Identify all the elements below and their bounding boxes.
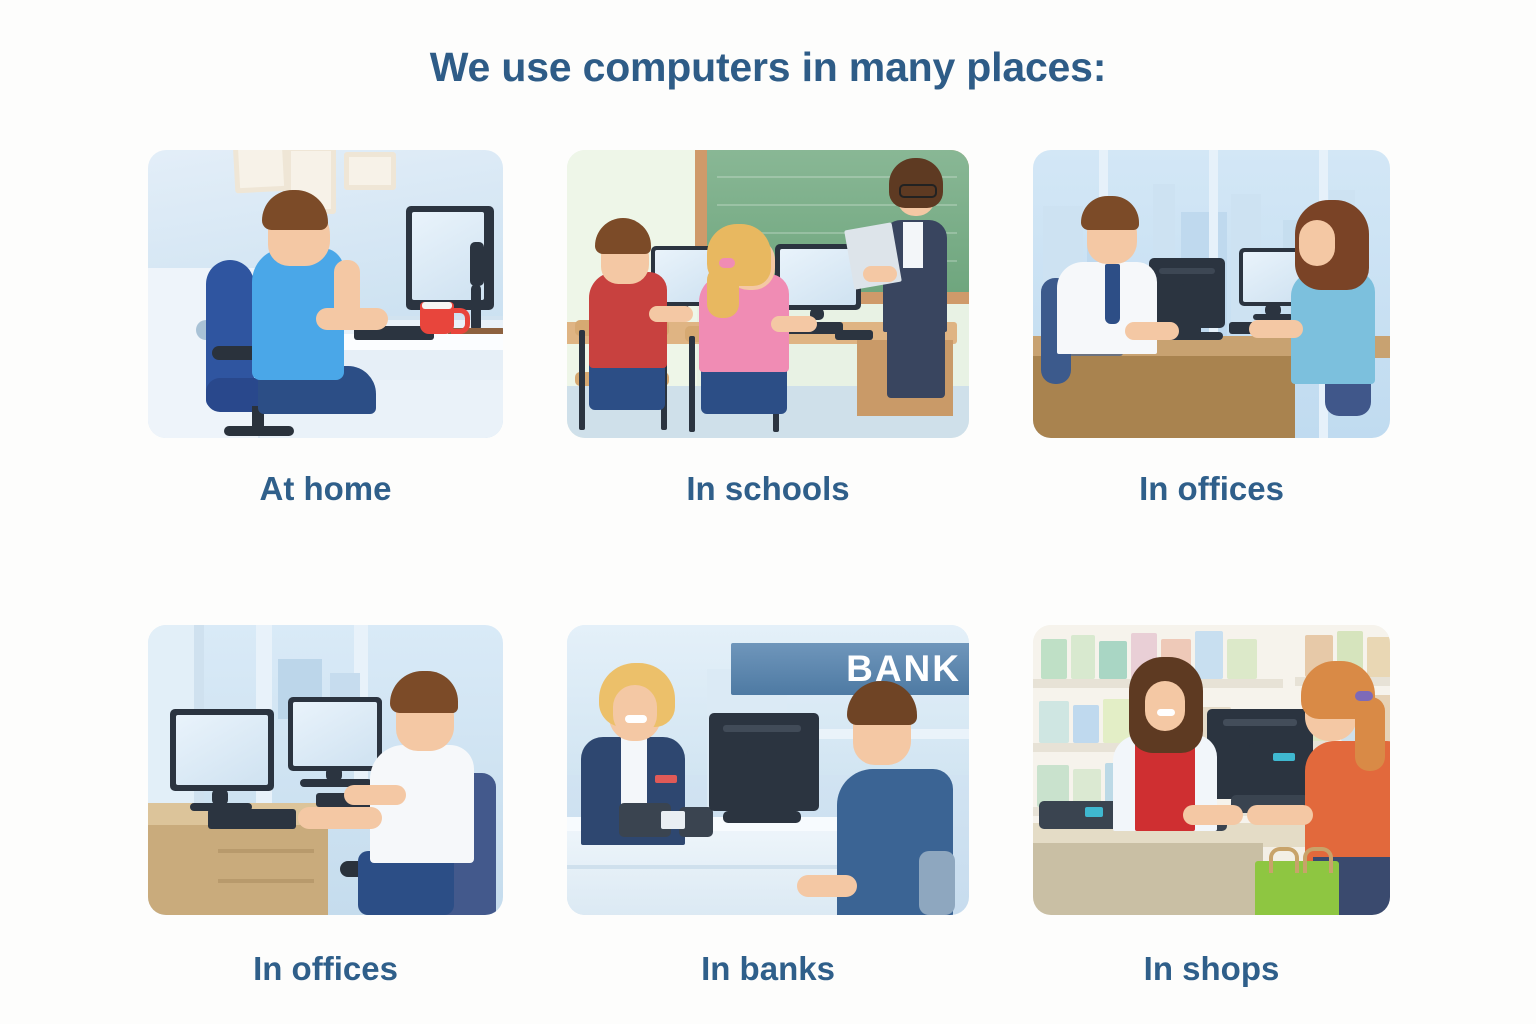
card-in-schools[interactable]: In schools [567,150,969,505]
illustration-in-schools [567,150,969,438]
bank-sign-text: BANK [846,648,969,690]
card-shape [661,811,685,829]
illustration-in-offices-top [1033,150,1390,438]
card-caption: In offices [253,952,398,985]
card-caption: In banks [701,952,835,985]
name-badge-shape [655,775,677,783]
card-in-banks[interactable]: BANK [567,625,969,985]
keyboard-shape [208,809,296,829]
card-in-shops[interactable]: In shops [1033,625,1390,985]
card-caption: In shops [1144,952,1280,985]
glasses-icon [899,184,937,198]
bank-sign: BANK [731,643,969,695]
card-caption: In schools [686,472,849,505]
card-in-offices-bottom[interactable]: In offices [148,625,503,985]
picture-frame-shape [344,152,396,190]
card-in-offices-top[interactable]: In offices [1033,150,1390,505]
page-title: We use computers in many places: [0,44,1536,91]
illustration-at-home [148,150,503,438]
card-at-home[interactable]: At home [148,150,503,505]
tie-shape [1105,264,1120,324]
picture-frame-shape [233,150,290,193]
card-caption: At home [260,472,392,505]
illustration-in-banks: BANK [567,625,969,915]
illustration-in-offices-bottom [148,625,503,915]
card-caption: In offices [1139,472,1284,505]
illustration-in-shops [1033,625,1390,915]
places-grid: At home [148,150,1392,985]
infographic-page: We use computers in many places: [0,0,1536,1024]
